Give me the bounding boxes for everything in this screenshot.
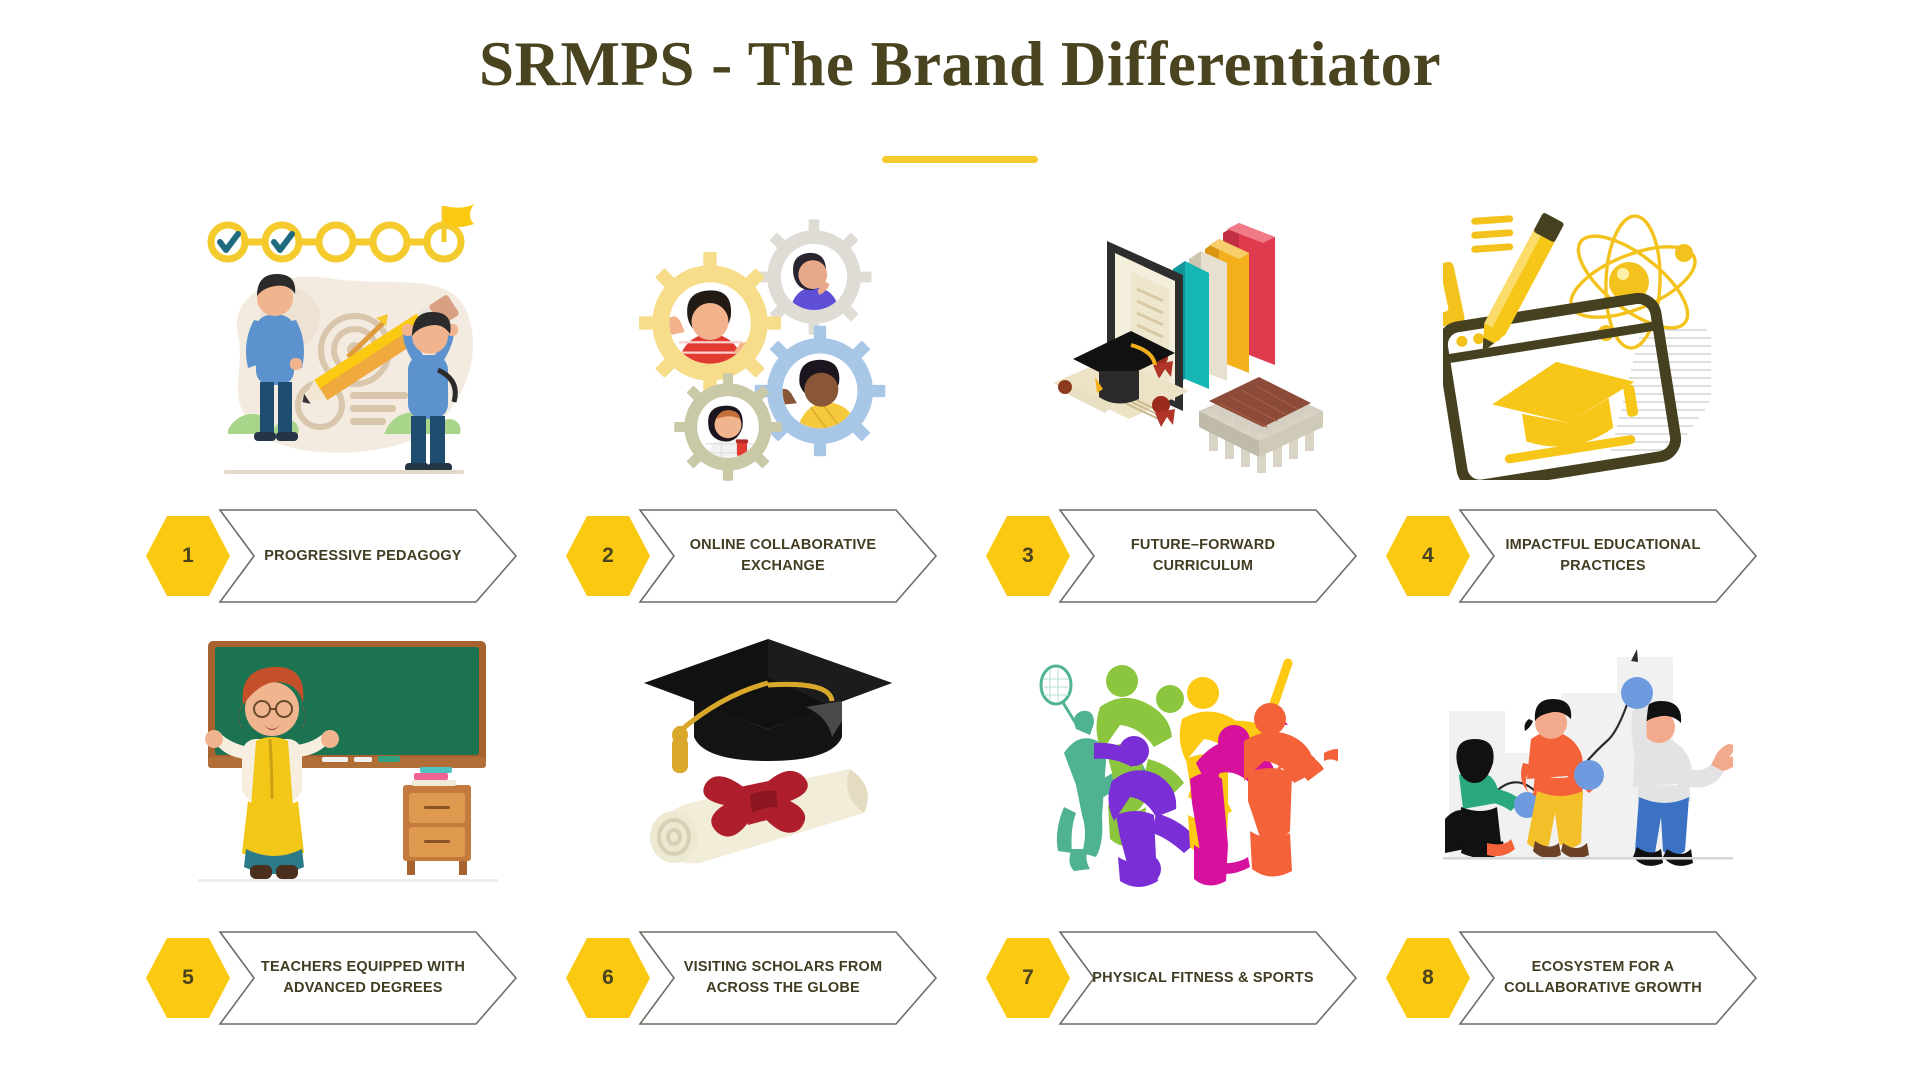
- feature-card-8[interactable]: 8 ECOSYSTEM FOR A COLLABORATIVE GROWTH: [1408, 612, 1768, 1032]
- chevron-6[interactable]: VISITING SCHOLARS FROM ACROSS THE GLOBE: [638, 930, 938, 1026]
- feature-card-6[interactable]: 6 VISITING SCHOLARS FROM ACROSS THE GLOB…: [588, 612, 948, 1032]
- chevron-7[interactable]: PHYSICAL FITNESS & SPORTS: [1058, 930, 1358, 1026]
- teacher-chalkboard-illustration: [168, 612, 528, 912]
- browser-gradcap-atom-illustration: [1408, 190, 1768, 490]
- feature-label-5: TEACHERS EQUIPPED WITH ADVANCED DEGREES: [218, 930, 518, 1026]
- feature-label-6: VISITING SCHOLARS FROM ACROSS THE GLOBE: [638, 930, 938, 1026]
- feature-label-8: ECOSYSTEM FOR A COLLABORATIVE GROWTH: [1458, 930, 1758, 1026]
- gear-portraits-collaboration-illustration: [588, 190, 948, 490]
- sports-silhouettes-illustration: [1008, 612, 1368, 912]
- feature-card-2[interactable]: 2 ONLINE COLLABORATIVE EXCHANGE: [588, 190, 948, 610]
- grid-row-top: 1 PROGRESSIVE PEDAGOGY: [150, 190, 1790, 610]
- label-row-8: 8 ECOSYSTEM FOR A COLLABORATIVE GROWTH: [1386, 930, 1758, 1026]
- feature-label-2: ONLINE COLLABORATIVE EXCHANGE: [638, 508, 938, 604]
- label-row-6: 6 VISITING SCHOLARS FROM ACROSS THE GLOB…: [566, 930, 938, 1026]
- label-row-1: 1 PROGRESSIVE PEDAGOGY: [146, 508, 518, 604]
- grid-row-bottom: 5 TEACHERS EQUIPPED WITH ADVANCED DEGREE…: [150, 612, 1790, 1032]
- growth-chart-people-illustration: [1408, 612, 1768, 912]
- slide-canvas: SRMPS - The Brand Differentiator: [0, 0, 1920, 1080]
- label-row-2: 2 ONLINE COLLABORATIVE EXCHANGE: [566, 508, 938, 604]
- label-row-3: 3 FUTURE–FORWARD CURRICULUM: [986, 508, 1358, 604]
- title-divider: [882, 156, 1038, 163]
- chevron-3[interactable]: FUTURE–FORWARD CURRICULUM: [1058, 508, 1358, 604]
- feature-card-7[interactable]: 7 PHYSICAL FITNESS & SPORTS: [1008, 612, 1368, 1032]
- feature-card-4[interactable]: 4 IMPACTFUL EDUCATIONAL PRACTICES: [1408, 190, 1768, 610]
- chevron-2[interactable]: ONLINE COLLABORATIVE EXCHANGE: [638, 508, 938, 604]
- label-row-5: 5 TEACHERS EQUIPPED WITH ADVANCED DEGREE…: [146, 930, 518, 1026]
- chevron-4[interactable]: IMPACTFUL EDUCATIONAL PRACTICES: [1458, 508, 1758, 604]
- differentiators-grid: 1 PROGRESSIVE PEDAGOGY: [150, 190, 1790, 1060]
- gradcap-scroll-illustration: [588, 612, 948, 912]
- chevron-8[interactable]: ECOSYSTEM FOR A COLLABORATIVE GROWTH: [1458, 930, 1758, 1026]
- feature-label-7: PHYSICAL FITNESS & SPORTS: [1058, 930, 1358, 1026]
- chevron-1[interactable]: PROGRESSIVE PEDAGOGY: [218, 508, 518, 604]
- label-row-4: 4 IMPACTFUL EDUCATIONAL PRACTICES: [1386, 508, 1758, 604]
- label-row-7: 7 PHYSICAL FITNESS & SPORTS: [986, 930, 1358, 1026]
- chevron-5[interactable]: TEACHERS EQUIPPED WITH ADVANCED DEGREES: [218, 930, 518, 1026]
- page-title: SRMPS - The Brand Differentiator: [0, 28, 1920, 101]
- feature-label-1: PROGRESSIVE PEDAGOGY: [218, 508, 518, 604]
- isometric-books-diploma-campus-illustration: [1008, 190, 1368, 490]
- feature-card-3[interactable]: 3 FUTURE–FORWARD CURRICULUM: [1008, 190, 1368, 610]
- feature-label-3: FUTURE–FORWARD CURRICULUM: [1058, 508, 1358, 604]
- feature-label-4: IMPACTFUL EDUCATIONAL PRACTICES: [1458, 508, 1758, 604]
- feature-card-5[interactable]: 5 TEACHERS EQUIPPED WITH ADVANCED DEGREE…: [168, 612, 528, 1032]
- feature-card-1[interactable]: 1 PROGRESSIVE PEDAGOGY: [168, 190, 528, 610]
- pencil-goal-team-illustration: [168, 190, 528, 490]
